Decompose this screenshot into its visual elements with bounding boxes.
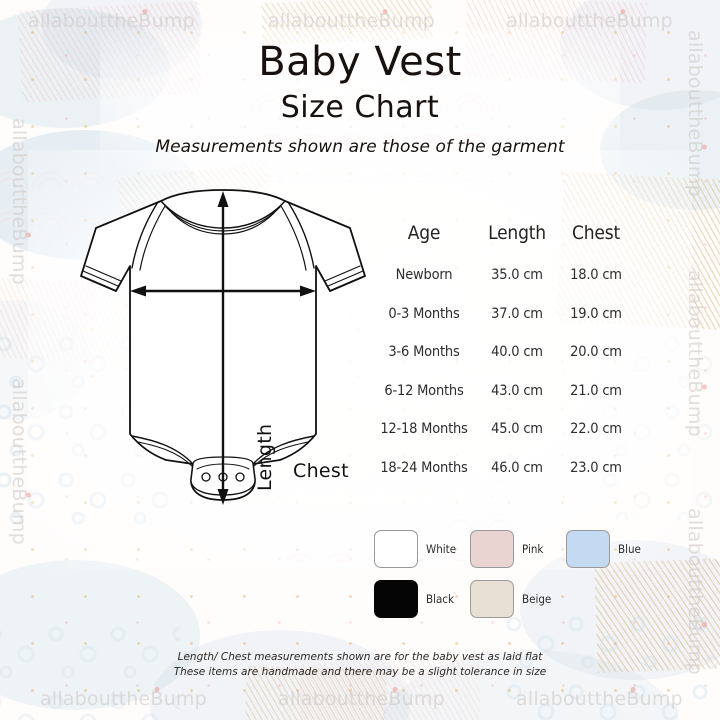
- chart-header: Baby Vest Size Chart Measurements shown …: [0, 42, 720, 157]
- swatch-colour-box: [470, 580, 514, 618]
- table-body: Newborn 35.0 cm 18.0 cm 0-3 Months 37.0 …: [372, 267, 634, 476]
- colour-swatch-legend: White Pink Blue Black Beige: [374, 530, 664, 630]
- swatch-label: Blue: [618, 542, 641, 556]
- page-title: Baby Vest: [0, 42, 720, 82]
- table-row: Newborn 35.0 cm 18.0 cm: [372, 267, 634, 283]
- chart-content: Baby Vest Size Chart Measurements shown …: [0, 0, 720, 720]
- length-dimension-label: Length: [254, 424, 276, 491]
- swatch-row: Black Beige: [374, 580, 664, 618]
- cell-age: 0-3 Months: [372, 306, 476, 322]
- size-table: Age Length Chest Newborn 35.0 cm 18.0 cm…: [372, 222, 634, 498]
- cell-age: 3-6 Months: [372, 344, 476, 360]
- swatch-colour-box: [374, 530, 418, 568]
- vest-illustration: Chest Length: [58, 188, 388, 513]
- table-row: 6-12 Months 43.0 cm 21.0 cm: [372, 383, 634, 399]
- swatch-item-white: White: [374, 530, 470, 568]
- cell-length: 46.0 cm: [476, 460, 558, 476]
- cell-age: 12-18 Months: [372, 421, 476, 437]
- swatch-label: Pink: [522, 542, 543, 556]
- table-row: 18-24 Months 46.0 cm 23.0 cm: [372, 460, 634, 476]
- cell-chest: 21.0 cm: [558, 383, 634, 399]
- cell-chest: 20.0 cm: [558, 344, 634, 360]
- cell-chest: 19.0 cm: [558, 306, 634, 322]
- column-header-length: Length: [476, 222, 558, 244]
- table-row: 3-6 Months 40.0 cm 20.0 cm: [372, 344, 634, 360]
- cell-length: 35.0 cm: [476, 267, 558, 283]
- cell-length: 40.0 cm: [476, 344, 558, 360]
- cell-age: 6-12 Months: [372, 383, 476, 399]
- column-header-chest: Chest: [558, 222, 634, 244]
- swatch-label: White: [426, 542, 456, 556]
- cell-length: 43.0 cm: [476, 383, 558, 399]
- size-chart-page: allabouttheBump allabouttheBump allabout…: [0, 0, 720, 720]
- swatch-colour-box: [470, 530, 514, 568]
- swatch-label: Black: [426, 592, 454, 606]
- swatch-row: White Pink Blue: [374, 530, 664, 568]
- table-row: 0-3 Months 37.0 cm 19.0 cm: [372, 306, 634, 322]
- cell-age: Newborn: [372, 267, 476, 283]
- cell-length: 37.0 cm: [476, 306, 558, 322]
- swatch-label: Beige: [522, 592, 551, 606]
- swatch-item-blue: Blue: [566, 530, 662, 568]
- swatch-item-pink: Pink: [470, 530, 566, 568]
- table-row: 12-18 Months 45.0 cm 22.0 cm: [372, 421, 634, 437]
- cell-chest: 22.0 cm: [558, 421, 634, 437]
- cell-chest: 23.0 cm: [558, 460, 634, 476]
- cell-chest: 18.0 cm: [558, 267, 634, 283]
- page-subtitle: Size Chart: [0, 93, 720, 123]
- footer-notes: Length/ Chest measurements shown are for…: [0, 650, 720, 680]
- footer-line-2: These items are handmade and there may b…: [0, 665, 720, 680]
- column-header-age: Age: [372, 222, 476, 244]
- footer-line-1: Length/ Chest measurements shown are for…: [0, 650, 720, 665]
- swatch-colour-box: [566, 530, 610, 568]
- swatch-colour-box: [374, 580, 418, 618]
- chest-dimension-label: Chest: [293, 460, 349, 482]
- cell-age: 18-24 Months: [372, 460, 476, 476]
- swatch-item-black: Black: [374, 580, 470, 618]
- cell-length: 45.0 cm: [476, 421, 558, 437]
- table-header-row: Age Length Chest: [372, 222, 634, 244]
- swatch-item-beige: Beige: [470, 580, 566, 618]
- page-tagline: Measurements shown are those of the garm…: [0, 137, 720, 157]
